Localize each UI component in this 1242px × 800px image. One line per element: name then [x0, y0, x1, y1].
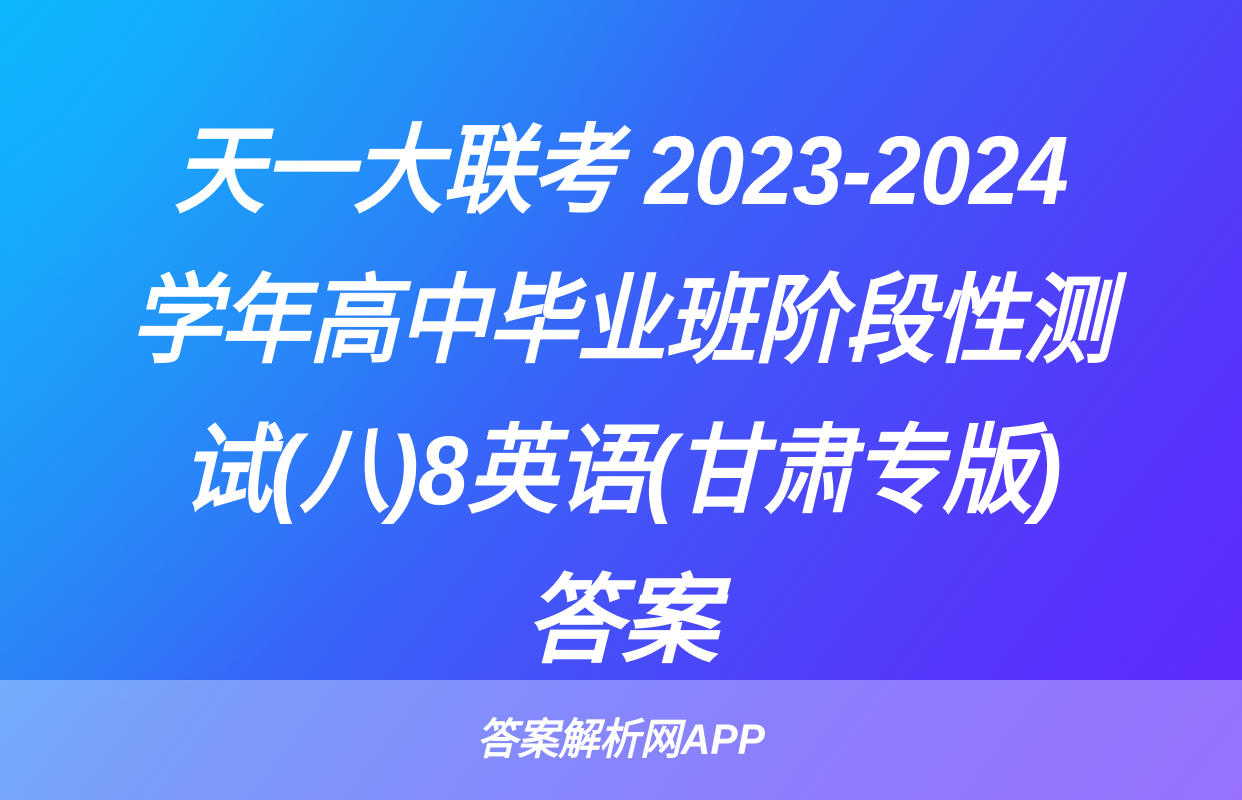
- title-line-2: 学年高中毕业班阶段性测: [112, 246, 1129, 396]
- page-title: 天一大联考 2023-2024 学年高中毕业班阶段性测 试(八)8英语(甘肃专版…: [0, 96, 1242, 696]
- title-line-4: 答案: [74, 546, 1168, 696]
- title-line-1: 天一大联考 2023-2024: [112, 96, 1129, 246]
- app-brand-label: 答案解析网APP: [477, 719, 765, 762]
- footer-brand-band: 答案解析网APP: [0, 680, 1242, 800]
- poster-canvas: 天一大联考 2023-2024 学年高中毕业班阶段性测 试(八)8英语(甘肃专版…: [0, 0, 1242, 800]
- title-line-3: 试(八)8英语(甘肃专版): [112, 396, 1129, 546]
